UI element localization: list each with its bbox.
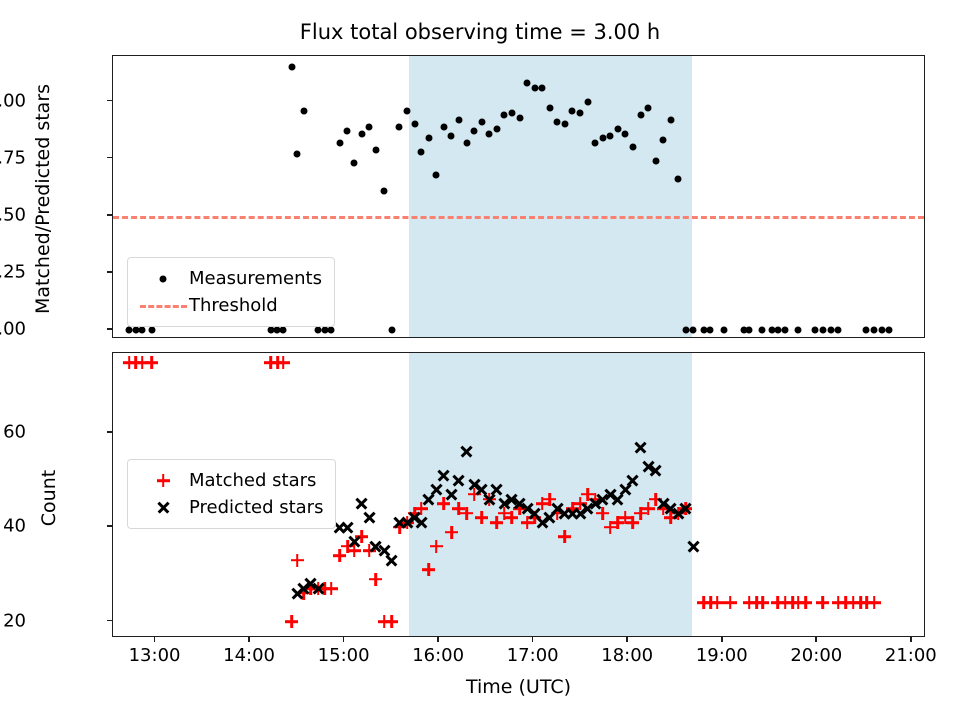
data-point <box>471 128 478 135</box>
data-point <box>561 121 568 128</box>
data-point <box>344 128 351 135</box>
data-point <box>433 171 440 178</box>
data-point <box>451 473 466 488</box>
x-tick-mark <box>815 637 817 642</box>
top-y-tick-mark <box>107 328 112 330</box>
data-point <box>324 581 339 596</box>
data-point <box>354 496 369 511</box>
data-point <box>637 112 644 119</box>
data-point <box>440 123 447 130</box>
data-point <box>660 137 667 144</box>
data-point <box>284 614 299 629</box>
predicted-stars-marker-icon <box>137 498 189 518</box>
top-y-tick-label: 1.00 <box>0 90 26 111</box>
top-y-tick-mark <box>107 214 112 216</box>
data-point <box>682 326 689 333</box>
data-point <box>625 473 640 488</box>
top-panel-legend: Measurements Threshold <box>127 257 335 327</box>
data-point <box>311 581 326 596</box>
data-point <box>418 148 425 155</box>
data-point <box>812 326 819 333</box>
x-tick-label: 16:00 <box>412 645 464 666</box>
data-point <box>459 506 474 521</box>
data-point <box>414 515 429 530</box>
data-point <box>328 326 335 333</box>
x-tick-mark <box>532 637 534 642</box>
data-point <box>795 326 802 333</box>
data-point <box>815 595 830 610</box>
x-tick-mark <box>910 637 912 642</box>
top-y-tick-label: 0.75 <box>0 147 26 168</box>
data-point <box>607 132 614 139</box>
x-tick-mark <box>626 637 628 642</box>
data-point <box>144 355 159 370</box>
matched-stars-marker-icon <box>137 471 189 491</box>
data-point <box>436 468 451 483</box>
data-point <box>396 123 403 130</box>
top-y-tick-label: 0.50 <box>0 204 26 225</box>
data-point <box>340 520 355 535</box>
data-point <box>336 139 343 146</box>
data-point <box>290 553 305 568</box>
data-point <box>404 107 411 114</box>
data-point <box>546 105 553 112</box>
data-point <box>614 126 621 133</box>
data-point <box>886 326 893 333</box>
data-point <box>478 119 485 126</box>
data-point <box>863 326 870 333</box>
data-point <box>592 139 599 146</box>
x-tick-label: 15:00 <box>318 645 370 666</box>
x-axis-label: Time (UTC) <box>112 676 925 698</box>
data-point <box>648 463 663 478</box>
figure-canvas: Flux total observing time = 3.00 h Match… <box>0 0 960 720</box>
data-point <box>539 84 546 91</box>
data-point <box>707 326 714 333</box>
data-point <box>746 326 753 333</box>
data-point <box>878 326 885 333</box>
data-point <box>622 130 629 137</box>
data-point <box>798 595 813 610</box>
legend-item-threshold: Threshold <box>137 292 322 319</box>
data-point <box>455 116 462 123</box>
data-point <box>759 326 766 333</box>
data-point <box>667 116 674 123</box>
legend-label-threshold: Threshold <box>189 295 278 316</box>
data-point <box>867 595 882 610</box>
figure-title: Flux total observing time = 3.00 h <box>0 20 960 44</box>
data-point <box>531 84 538 91</box>
data-point <box>444 487 459 502</box>
data-point <box>755 595 770 610</box>
data-point <box>599 135 606 142</box>
data-point <box>372 146 379 153</box>
x-tick-label: 19:00 <box>696 645 748 666</box>
data-point <box>690 326 697 333</box>
data-point <box>358 130 365 137</box>
data-point <box>300 107 307 114</box>
legend-item-measurements: Measurements <box>137 265 322 292</box>
bottom-y-tick-label: 40 <box>3 516 26 537</box>
data-point <box>411 121 418 128</box>
data-point <box>288 64 295 71</box>
x-tick-mark <box>248 637 250 642</box>
data-point <box>362 510 377 525</box>
x-tick-label: 18:00 <box>601 645 653 666</box>
data-point <box>425 135 432 142</box>
data-point <box>819 326 826 333</box>
bottom-y-tick-mark <box>107 525 112 527</box>
data-point <box>584 98 591 105</box>
data-point <box>557 529 572 544</box>
ratio-plot-axes: Measurements Threshold <box>112 55 925 338</box>
data-point <box>294 151 301 158</box>
x-tick-mark <box>721 637 723 642</box>
data-point <box>678 501 693 516</box>
data-point <box>720 326 727 333</box>
data-point <box>629 144 636 151</box>
data-point <box>577 110 584 117</box>
x-tick-mark <box>343 637 345 642</box>
data-point <box>388 326 395 333</box>
data-point <box>645 105 652 112</box>
legend-item-predicted-stars: Predicted stars <box>137 494 323 521</box>
data-point <box>139 326 146 333</box>
bottom-y-tick-label: 60 <box>3 422 26 443</box>
data-point <box>459 444 474 459</box>
data-point <box>448 132 455 139</box>
data-point <box>474 510 489 525</box>
bottom-y-tick-mark <box>107 431 112 433</box>
data-point <box>675 176 682 183</box>
bottom-y-tick-label: 20 <box>3 610 26 631</box>
data-point <box>835 326 842 333</box>
x-tick-mark <box>154 637 156 642</box>
x-tick-label: 21:00 <box>885 645 937 666</box>
data-point <box>774 326 781 333</box>
top-y-tick-mark <box>107 271 112 273</box>
top-y-tick-label: 0.25 <box>0 261 26 282</box>
data-point <box>782 326 789 333</box>
data-point <box>463 139 470 146</box>
measurements-marker-icon <box>137 269 189 289</box>
x-tick-label: 14:00 <box>223 645 275 666</box>
data-point <box>723 595 738 610</box>
data-point <box>421 562 436 577</box>
data-point <box>501 112 508 119</box>
data-point <box>351 160 358 167</box>
data-point <box>508 110 515 117</box>
bottom-y-tick-mark <box>107 620 112 622</box>
data-point <box>524 80 531 87</box>
data-point <box>827 326 834 333</box>
data-point <box>652 157 659 164</box>
data-point <box>429 539 444 554</box>
top-y-tick-mark <box>107 157 112 159</box>
legend-label-predicted-stars: Predicted stars <box>189 497 323 518</box>
data-point <box>444 525 459 540</box>
x-tick-label: 13:00 <box>129 645 181 666</box>
data-point <box>366 123 373 130</box>
data-point <box>569 107 576 114</box>
data-point <box>384 614 399 629</box>
data-point <box>516 114 523 121</box>
data-point <box>489 482 504 497</box>
bottom-panel-legend: Matched stars Predicted stars <box>127 459 336 529</box>
top-y-tick-mark <box>107 100 112 102</box>
observing-window-shading <box>409 56 693 337</box>
data-point <box>554 119 561 126</box>
legend-label-measurements: Measurements <box>189 268 322 289</box>
data-point <box>429 482 444 497</box>
x-tick-label: 20:00 <box>790 645 842 666</box>
data-point <box>633 440 648 455</box>
data-point <box>486 130 493 137</box>
data-point <box>368 572 383 587</box>
data-point <box>493 126 500 133</box>
data-point <box>381 187 388 194</box>
data-point <box>384 553 399 568</box>
data-point <box>347 534 362 549</box>
data-point <box>148 326 155 333</box>
legend-label-matched-stars: Matched stars <box>189 470 316 491</box>
data-point <box>871 326 878 333</box>
data-point <box>280 326 287 333</box>
top-panel-y-axis-label: Matched/Predicted stars <box>32 49 54 349</box>
legend-item-matched-stars: Matched stars <box>137 467 323 494</box>
threshold-line <box>113 216 924 219</box>
x-tick-label: 17:00 <box>507 645 559 666</box>
data-point <box>686 539 701 554</box>
x-tick-mark <box>437 637 439 642</box>
count-plot-axes: Matched stars Predicted stars <box>112 352 925 637</box>
data-point <box>276 355 291 370</box>
bottom-panel-y-axis-label: Count <box>38 438 60 558</box>
top-y-tick-label: 0.00 <box>0 318 26 339</box>
threshold-dashed-line-icon <box>137 296 189 316</box>
